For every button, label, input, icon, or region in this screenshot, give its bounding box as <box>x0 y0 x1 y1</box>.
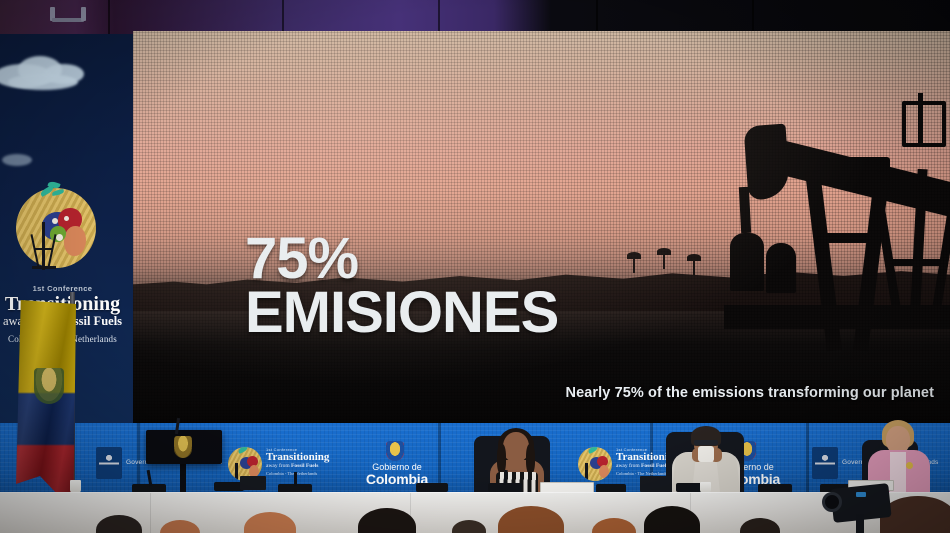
oil-derrick-icon <box>30 222 60 270</box>
colombia-coat-of-arms-icon <box>386 441 404 461</box>
netherlands-crest-icon <box>96 447 122 479</box>
microphone-icon <box>294 472 297 486</box>
headline-word: EMISIONES <box>245 287 558 339</box>
conference-logo-mark <box>578 447 612 481</box>
drinking-cup <box>698 446 714 462</box>
conference-subtitle: away from Fossil Fuels <box>266 463 329 469</box>
conference-title: Transitioning <box>266 452 329 463</box>
colombia-coat-of-arms-icon <box>34 368 64 404</box>
led-presentation-screen: 75% EMISIONES Nearly 75% of the emission… <box>133 31 950 423</box>
conference-logo-mark <box>12 182 100 274</box>
camera-tally-light <box>856 492 866 497</box>
ceiling-light-fixture-icon <box>50 7 86 23</box>
camera-lens-icon <box>822 492 842 512</box>
ceiling-panels <box>0 0 950 34</box>
conference-eyebrow: 1st Conference <box>0 284 125 293</box>
slide-headline: 75% EMISIONES <box>245 233 558 339</box>
headline-percent: 75% <box>245 233 558 285</box>
conference-photo-scene: 1st Conference Transitioning away from F… <box>0 0 950 533</box>
conference-countries: Colombia - The Netherlands <box>266 471 329 476</box>
colombia-coat-of-arms-icon <box>174 436 192 458</box>
netherlands-crest-icon <box>812 447 838 479</box>
eyeglasses-icon <box>694 440 718 445</box>
slide-caption: Nearly 75% of the emissions transforming… <box>566 385 935 401</box>
panelist-left-hair-strand <box>526 444 535 474</box>
microphone-base <box>416 483 448 492</box>
laptop <box>240 476 266 490</box>
lapel-pin-icon <box>906 462 913 469</box>
cloud-icon <box>2 154 32 166</box>
lectern <box>146 430 222 464</box>
camera-mount <box>856 514 864 533</box>
oil-pumpjack-silhouette <box>688 83 950 343</box>
cloud-icon <box>8 74 78 90</box>
laptop <box>640 476 672 492</box>
leaf-sprout-icon <box>40 182 66 202</box>
